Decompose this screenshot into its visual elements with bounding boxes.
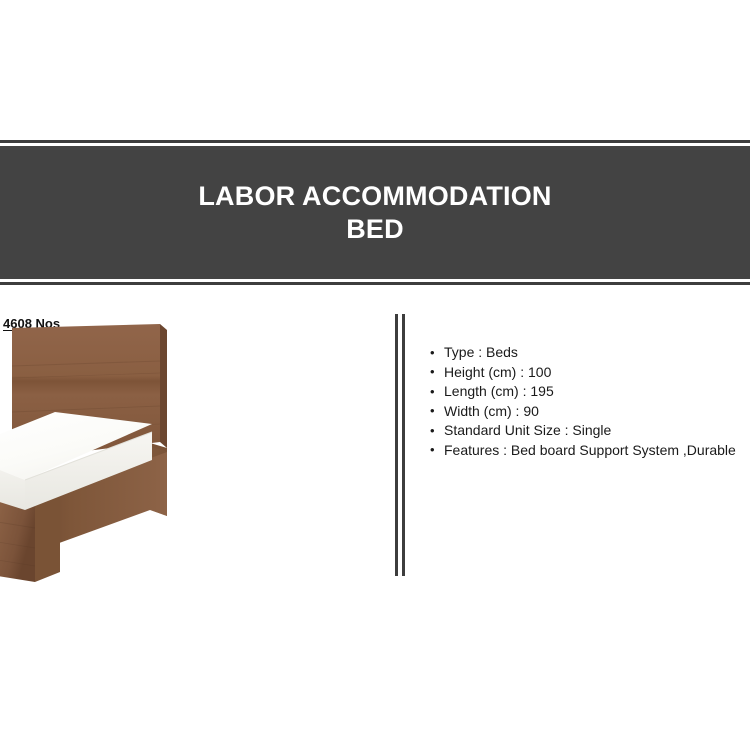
bed-illustration [0, 320, 330, 588]
header-banner: LABOR ACCOMMODATION BED [0, 140, 750, 285]
specification-list: Type : Beds Height (cm) : 100 Length (cm… [430, 343, 750, 460]
bed-headboard-edge [160, 324, 167, 448]
bed-footboard-return [35, 492, 60, 582]
vertical-divider [395, 314, 406, 576]
page-title-line-2: BED [346, 213, 404, 246]
banner-body: LABOR ACCOMMODATION BED [0, 146, 750, 279]
divider-stroke-right [402, 314, 405, 576]
list-item: Features : Bed board Support System ,Dur… [430, 441, 750, 461]
divider-stroke-left [395, 314, 398, 576]
list-item: Width (cm) : 90 [430, 402, 750, 422]
list-item: Length (cm) : 195 [430, 382, 750, 402]
banner-top-rule [0, 140, 750, 143]
list-item: Height (cm) : 100 [430, 363, 750, 383]
list-item: Standard Unit Size : Single [430, 421, 750, 441]
list-item: Type : Beds [430, 343, 750, 363]
bed-product-image [0, 320, 330, 588]
product-spec-sheet: LABOR ACCOMMODATION BED 4608 Nos [0, 0, 750, 750]
banner-bottom-rule [0, 282, 750, 285]
page-title-line-1: LABOR ACCOMMODATION [198, 180, 551, 213]
